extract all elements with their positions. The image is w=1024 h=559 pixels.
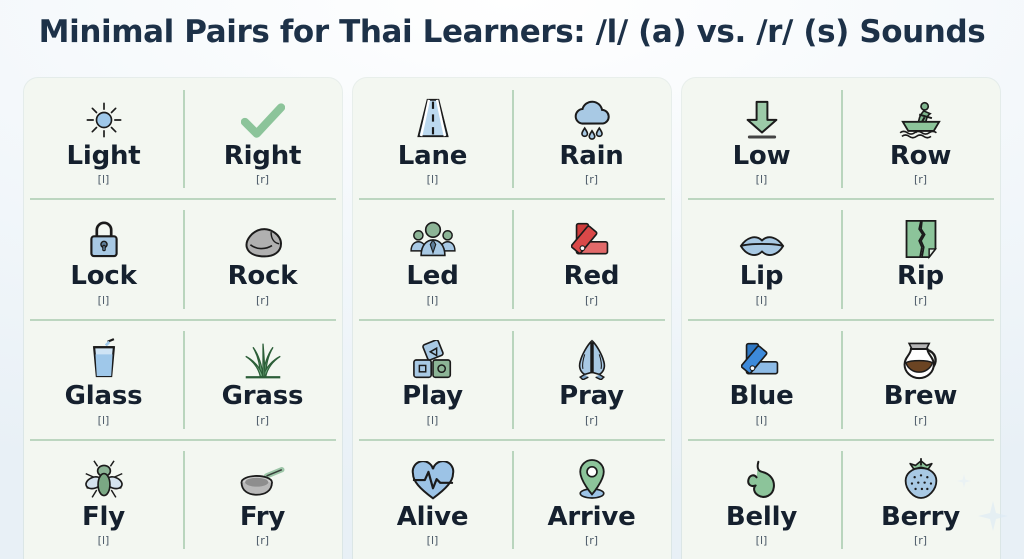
phoneme-label: [l]: [756, 414, 768, 427]
phoneme-label: [l]: [427, 173, 439, 186]
strawberry-icon: [895, 455, 947, 501]
word-label: Lip: [740, 263, 784, 290]
frying-pan-icon: [237, 455, 289, 501]
pair-row: Lane[l]Rain[r]: [353, 78, 671, 198]
word-label: Pray: [559, 383, 624, 410]
word-cell-brew[interactable]: Brew[r]: [841, 319, 1000, 439]
word-cell-rock[interactable]: Rock[r]: [183, 198, 342, 318]
pair-column-2: Lane[l]Rain[r]Led[l]Red[r]Play[l]Pray[r]…: [353, 78, 671, 559]
map-pin-icon: [566, 455, 618, 501]
phoneme-label: [r]: [914, 534, 927, 547]
coffee-pot-icon: [895, 334, 947, 380]
checkmark-icon: [237, 94, 289, 140]
praying-hands-icon: [566, 334, 618, 380]
pair-row: Play[l]Pray[r]: [353, 319, 671, 439]
minimal-pairs-grid: Light[l]Right[r]Lock[l]Rock[r]Glass[l]Gr…: [24, 78, 1000, 559]
word-cell-rain[interactable]: Rain[r]: [512, 78, 671, 198]
word-label: Low: [733, 143, 791, 170]
word-label: Lock: [70, 263, 136, 290]
phoneme-label: [l]: [427, 294, 439, 307]
pair-row: Fly[l]Fry[r]: [24, 439, 342, 559]
phoneme-label: [r]: [585, 173, 598, 186]
word-label: Led: [406, 263, 458, 290]
word-label: Belly: [726, 504, 797, 531]
word-label: Alive: [397, 504, 469, 531]
pair-column-1: Light[l]Right[r]Lock[l]Rock[r]Glass[l]Gr…: [24, 78, 342, 559]
pair-row: Lock[l]Rock[r]: [24, 198, 342, 318]
phoneme-label: [r]: [256, 414, 269, 427]
word-label: Grass: [222, 383, 304, 410]
phoneme-label: [r]: [256, 534, 269, 547]
torn-paper-icon: [895, 214, 947, 260]
word-label: Blue: [729, 383, 793, 410]
blue-color-swatch-icon: [736, 334, 788, 380]
word-label: Right: [224, 143, 301, 170]
word-cell-lip[interactable]: Lip[l]: [682, 198, 841, 318]
word-cell-berry[interactable]: Berry[r]: [841, 439, 1000, 559]
down-arrow-icon: [736, 94, 788, 140]
word-label: Light: [66, 143, 140, 170]
drinking-glass-icon: [78, 334, 130, 380]
phoneme-label: [l]: [98, 294, 110, 307]
phoneme-label: [r]: [585, 414, 598, 427]
word-cell-light[interactable]: Light[l]: [24, 78, 183, 198]
word-label: Row: [890, 143, 951, 170]
word-cell-fry[interactable]: Fry[r]: [183, 439, 342, 559]
phoneme-label: [r]: [914, 294, 927, 307]
phoneme-label: [l]: [98, 534, 110, 547]
word-label: Rip: [897, 263, 944, 290]
pair-row: Belly[l]Berry[r]: [682, 439, 1000, 559]
word-label: Red: [564, 263, 620, 290]
sun-icon: [78, 94, 130, 140]
word-cell-play[interactable]: Play[l]: [353, 319, 512, 439]
word-label: Brew: [884, 383, 958, 410]
word-cell-fly[interactable]: Fly[l]: [24, 439, 183, 559]
word-cell-right[interactable]: Right[r]: [183, 78, 342, 198]
phoneme-label: [r]: [585, 294, 598, 307]
word-cell-lane[interactable]: Lane[l]: [353, 78, 512, 198]
word-cell-lock[interactable]: Lock[l]: [24, 198, 183, 318]
phoneme-label: [r]: [914, 173, 927, 186]
phoneme-label: [r]: [256, 173, 269, 186]
word-label: Rain: [559, 143, 623, 170]
word-cell-blue[interactable]: Blue[l]: [682, 319, 841, 439]
word-cell-row[interactable]: Row[r]: [841, 78, 1000, 198]
pair-row: Lip[l]Rip[r]: [682, 198, 1000, 318]
word-label: Fly: [82, 504, 125, 531]
stone-icon: [237, 214, 289, 260]
word-label: Arrive: [547, 504, 635, 531]
word-label: Berry: [881, 504, 960, 531]
rain-cloud-icon: [566, 94, 618, 140]
housefly-icon: [78, 455, 130, 501]
grass-icon: [237, 334, 289, 380]
phoneme-label: [r]: [585, 534, 598, 547]
pair-row: Alive[l]Arrive[r]: [353, 439, 671, 559]
word-label: Lane: [398, 143, 467, 170]
leader-group-icon: [407, 214, 459, 260]
pair-row: Light[l]Right[r]: [24, 78, 342, 198]
phoneme-label: [l]: [98, 173, 110, 186]
word-cell-arrive[interactable]: Arrive[r]: [512, 439, 671, 559]
heartbeat-icon: [407, 455, 459, 501]
phoneme-label: [l]: [427, 414, 439, 427]
word-cell-pray[interactable]: Pray[r]: [512, 319, 671, 439]
page-background: Minimal Pairs for Thai Learners: /l/ (a)…: [0, 0, 1024, 559]
word-cell-low[interactable]: Low[l]: [682, 78, 841, 198]
word-cell-glass[interactable]: Glass[l]: [24, 319, 183, 439]
phoneme-label: [r]: [256, 294, 269, 307]
red-color-swatch-icon: [566, 214, 618, 260]
word-cell-grass[interactable]: Grass[r]: [183, 319, 342, 439]
pair-row: Low[l]Row[r]: [682, 78, 1000, 198]
phoneme-label: [r]: [914, 414, 927, 427]
lips-icon: [736, 214, 788, 260]
pair-row: Led[l]Red[r]: [353, 198, 671, 318]
padlock-icon: [78, 214, 130, 260]
phoneme-label: [l]: [756, 294, 768, 307]
word-cell-led[interactable]: Led[l]: [353, 198, 512, 318]
word-label: Rock: [228, 263, 298, 290]
pair-column-3: Low[l]Row[r]Lip[l]Rip[r]Blue[l]Brew[r]Be…: [682, 78, 1000, 559]
word-cell-red[interactable]: Red[r]: [512, 198, 671, 318]
word-cell-rip[interactable]: Rip[r]: [841, 198, 1000, 318]
word-label: Fry: [240, 504, 285, 531]
word-cell-belly[interactable]: Belly[l]: [682, 439, 841, 559]
toy-blocks-icon: [407, 334, 459, 380]
word-label: Play: [402, 383, 463, 410]
word-label: Glass: [65, 383, 143, 410]
pair-row: Blue[l]Brew[r]: [682, 319, 1000, 439]
road-icon: [407, 94, 459, 140]
pair-row: Glass[l]Grass[r]: [24, 319, 342, 439]
stomach-icon: [736, 455, 788, 501]
phoneme-label: [l]: [756, 534, 768, 547]
page-title: Minimal Pairs for Thai Learners: /l/ (a)…: [0, 14, 1024, 50]
word-cell-alive[interactable]: Alive[l]: [353, 439, 512, 559]
phoneme-label: [l]: [98, 414, 110, 427]
phoneme-label: [l]: [756, 173, 768, 186]
rowboat-icon: [895, 94, 947, 140]
phoneme-label: [l]: [427, 534, 439, 547]
